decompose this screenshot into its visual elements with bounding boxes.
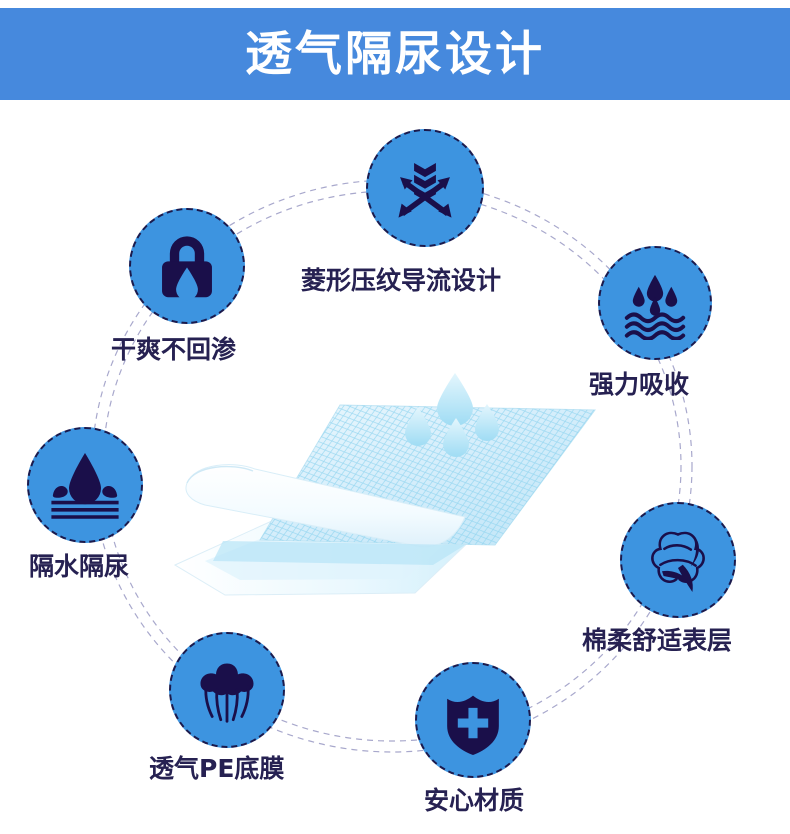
cotton-flower-icon [638,520,718,600]
feature-circle-soft-cotton-surface[interactable] [620,502,736,618]
shield-cross-icon [435,682,511,758]
feature-diagram: 菱形压纹导流设计 强力吸收 [0,100,790,834]
header-banner: 透气隔尿设计 [0,8,790,100]
feature-label-water-urine-barrier: 隔水隔尿 [29,554,129,579]
feature-circle-water-urine-barrier[interactable] [27,427,143,543]
cross-arrows-chevron-icon [386,149,464,227]
feature-label-diamond-embossed-flow: 菱形压纹导流设计 [301,268,501,293]
page-title: 透气隔尿设计 [245,31,545,78]
feature-circle-safe-material[interactable] [415,662,531,778]
feature-circle-strong-absorption[interactable] [598,246,712,360]
feature-circle-diamond-embossed-flow[interactable] [366,129,484,247]
underpad-product-photo [165,365,615,615]
droplet-splash-lines-icon [45,445,125,525]
lock-droplet-icon [148,227,226,305]
breathable-cloud-icon [188,651,266,729]
feature-label-safe-material: 安心材质 [424,788,524,813]
feature-circle-dry-no-rewet[interactable] [129,208,245,324]
feature-label-soft-cotton-surface: 棉柔舒适表层 [582,628,732,653]
feature-label-breathable-pe-film: 透气PE底膜 [149,756,284,781]
droplets-over-waves-icon [618,266,692,340]
feature-label-dry-no-rewet: 干爽不回渗 [111,337,236,362]
feature-label-strong-absorption: 强力吸收 [589,372,689,397]
feature-circle-breathable-pe-film[interactable] [169,632,285,748]
